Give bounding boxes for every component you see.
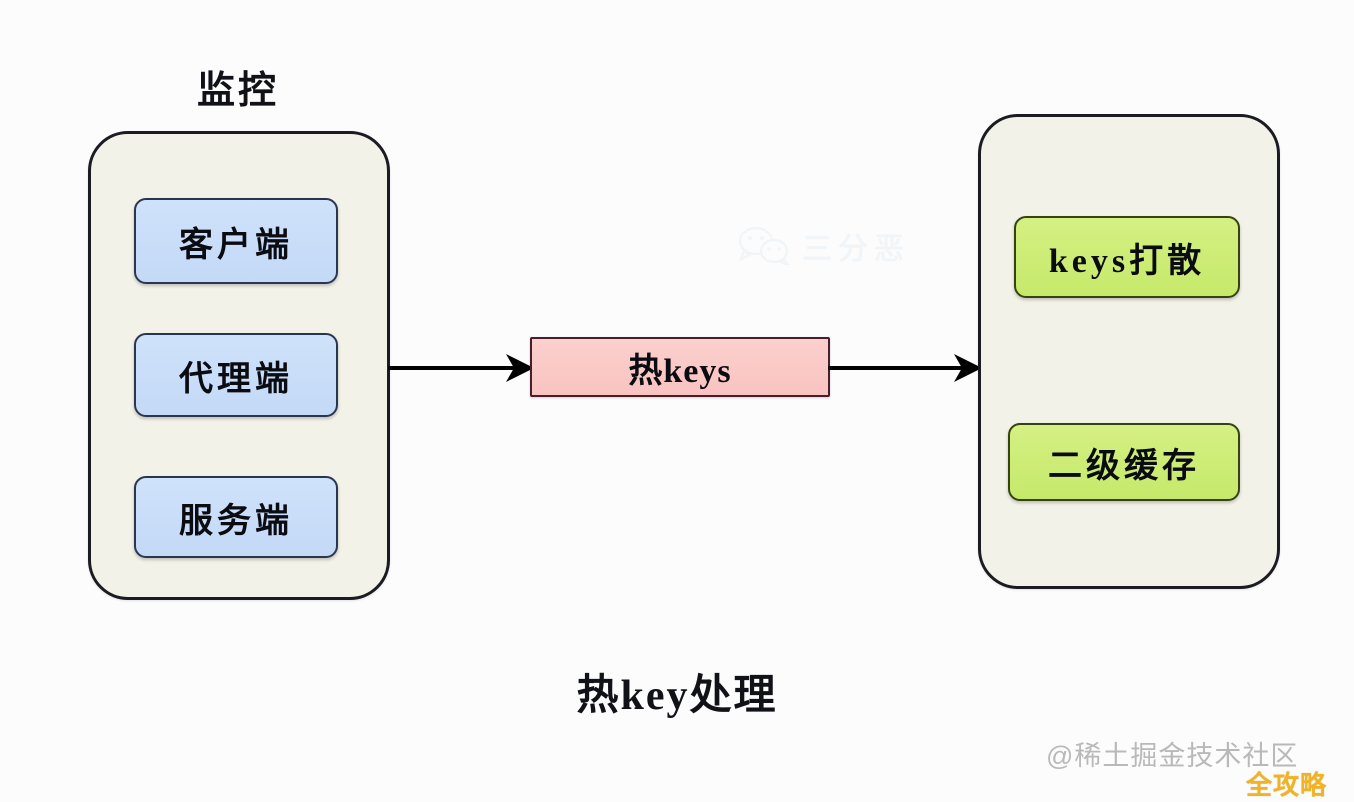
node-proxy[interactable]: 代理端: [134, 333, 338, 417]
node-hot-keys[interactable]: 热keys: [530, 337, 830, 397]
diagram-caption: 热key处理: [487, 660, 867, 722]
watermark-corner-badge: 全攻略: [1246, 768, 1346, 798]
arrow-hotkeys-to-strategies: [828, 345, 982, 391]
diagram-canvas: 监控 客户端 代理端 服务端 热keys keys打散 二级缓存 热key处理 …: [0, 0, 1354, 802]
node-client[interactable]: 客户端: [134, 198, 338, 284]
node-keys-split[interactable]: keys打散: [1014, 216, 1240, 298]
node-second-level-cache[interactable]: 二级缓存: [1008, 423, 1240, 501]
section-label-monitoring: 监控: [178, 60, 298, 112]
group-strategies: [978, 114, 1280, 589]
wechat-icon: [738, 227, 792, 265]
watermark-center-text: 三分恶: [802, 224, 910, 268]
watermark-center: 三分恶: [738, 222, 968, 270]
arrow-monitoring-to-hotkeys: [388, 345, 534, 391]
node-server[interactable]: 服务端: [134, 476, 338, 558]
